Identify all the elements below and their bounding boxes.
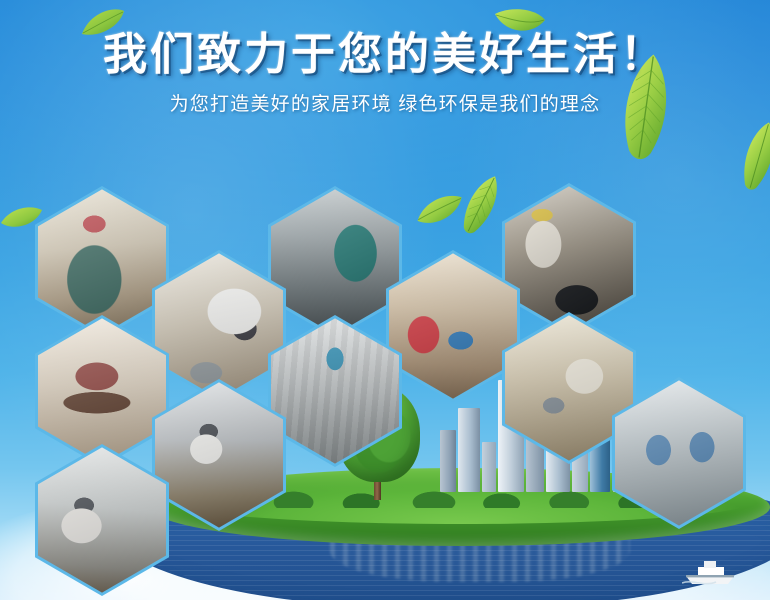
hex-photo-image — [155, 382, 283, 527]
hex-photo-image — [38, 318, 166, 463]
hex-photo-image — [38, 447, 166, 592]
hex-photo-carpet-machine[interactable] — [386, 250, 520, 402]
hex-photo-image — [271, 189, 399, 334]
hex-photo-image — [505, 186, 633, 331]
hex-photo-image — [271, 318, 399, 463]
headline-block: 我们致力于您的美好生活！ 为您打造美好的家居环境 绿色环保是我们的理念 — [0, 30, 770, 118]
promo-banner: 我们致力于您的美好生活！ 为您打造美好的家居环境 绿色环保是我们的理念 — [0, 0, 770, 600]
banner-subline: 为您打造美好的家居环境 绿色环保是我们的理念 — [0, 92, 770, 118]
hex-photo-image — [38, 189, 166, 334]
banner-headline: 我们致力于您的美好生活！ — [103, 30, 667, 80]
hex-photo-rope-facade[interactable] — [268, 315, 402, 467]
hex-photo-floor-waxing[interactable] — [35, 444, 169, 596]
hex-photo-image — [155, 253, 283, 398]
hex-photo-image — [389, 253, 517, 398]
hex-photo-gondola-glass[interactable] — [152, 379, 286, 531]
